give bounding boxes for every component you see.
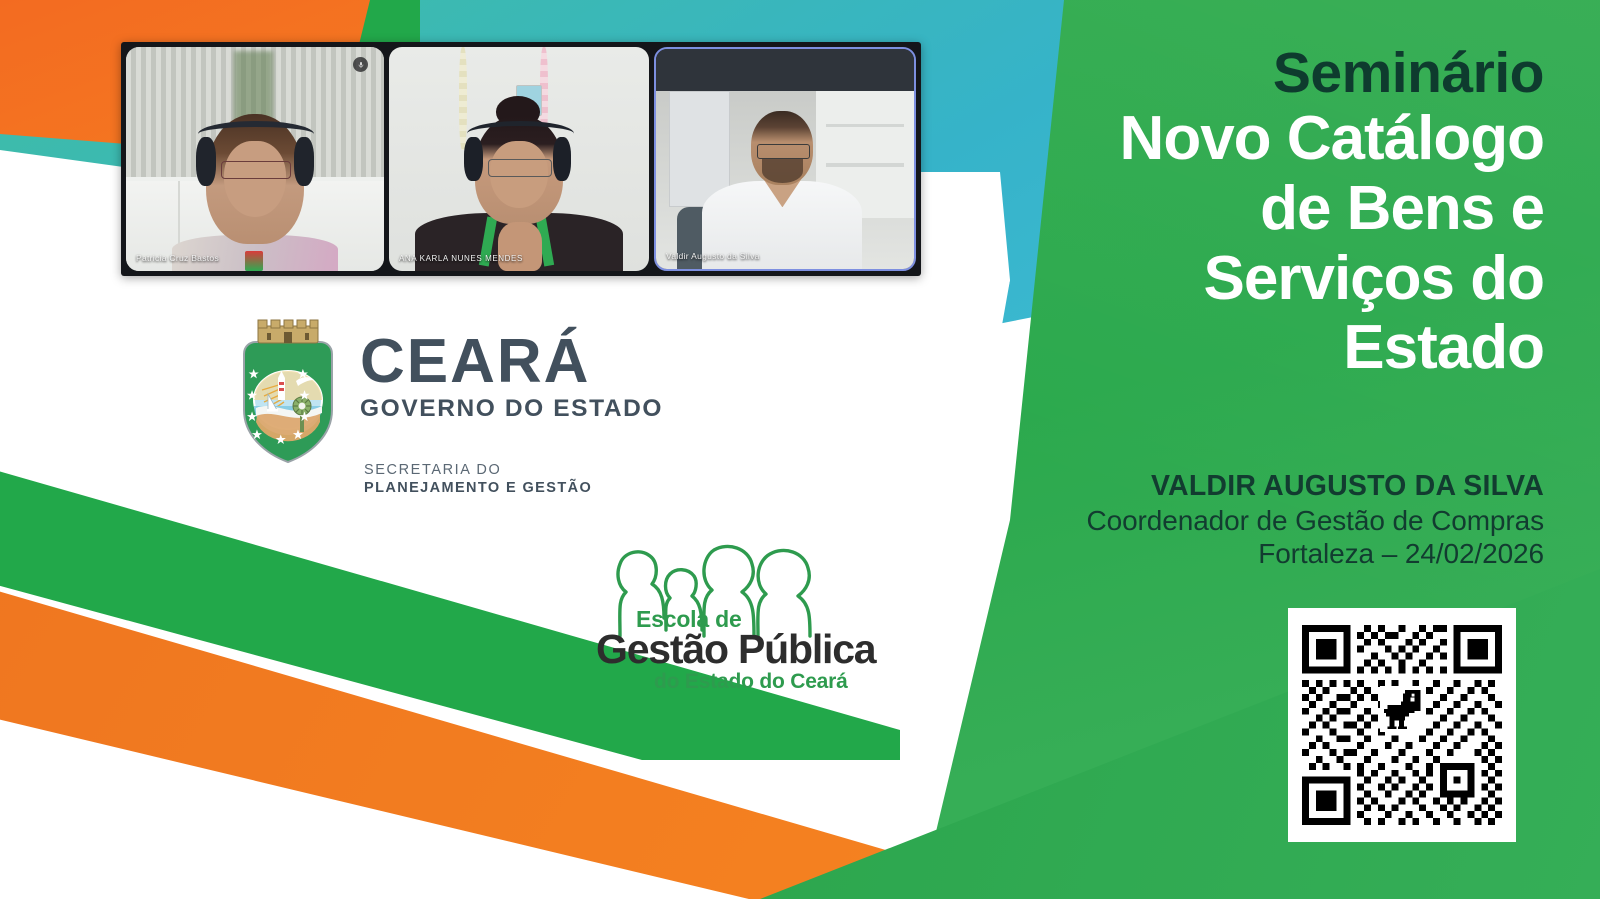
title-line-1: Novo Catálogo: [984, 106, 1544, 172]
video-tile-participant-2[interactable]: ANA KARLA NUNES MENDES: [389, 47, 649, 271]
title-kicker: Seminário: [984, 44, 1544, 102]
ceara-subtitle: GOVERNO DO ESTADO: [360, 395, 663, 423]
title-line-4: Estado: [984, 315, 1544, 381]
presentation-slide: Patricia Cruz Bastos ANA KARLA NUNES MEN…: [0, 0, 1600, 899]
qr-code[interactable]: [1288, 608, 1516, 842]
participant-name-label: Patricia Cruz Bastos: [136, 253, 219, 263]
video-tile-participant-1[interactable]: Patricia Cruz Bastos: [126, 47, 384, 271]
ceara-wordmark: CEARÁ: [360, 332, 663, 393]
tile1-person-badge: [245, 251, 263, 271]
egp-line-2: Gestão Pública: [596, 626, 875, 673]
speaker-info-block: VALDIR AUGUSTO DA SILVA Coordenador de G…: [984, 470, 1544, 570]
tile3-ceiling: [656, 49, 914, 91]
tile1-headset-left: [196, 137, 217, 186]
ceara-government-logo: CEARÁ GOVERNO DO ESTADO SECRETARIA DO PL…: [232, 314, 702, 504]
tile2-eyeglasses: [488, 159, 552, 177]
tile3-shelf-lower: [826, 163, 903, 166]
ceara-coat-of-arms-icon: [234, 318, 342, 466]
tile1-eyeglasses: [221, 161, 290, 179]
ceara-wordmark-block: CEARÁ GOVERNO DO ESTADO: [360, 332, 663, 423]
video-tile-participant-3[interactable]: Valdir Augusto da Silva: [654, 47, 916, 271]
tile3-eyeglasses: [757, 144, 811, 159]
title-line-3: Serviços do: [984, 246, 1544, 312]
tile2-headset-right: [553, 137, 571, 182]
tile3-person-beard: [762, 159, 803, 183]
tile1-person-face: [224, 141, 286, 217]
video-conference-strip: Patricia Cruz Bastos ANA KARLA NUNES MEN…: [121, 42, 921, 276]
slide-title-block: Seminário Novo Catálogo de Bens e Serviç…: [984, 44, 1544, 381]
tile1-headset-right: [294, 137, 315, 186]
escola-gestao-publica-logo: Escola de Gestão Pública do Estado do Ce…: [588, 518, 878, 704]
speaker-name: VALDIR AUGUSTO DA SILVA: [984, 470, 1544, 503]
speaker-place-date: Fortaleza – 24/02/2026: [984, 538, 1544, 570]
title-line-2: de Bens e: [984, 176, 1544, 242]
secretariat-line-1: SECRETARIA DO: [364, 462, 592, 478]
egp-line-3: do Estado do Ceará: [654, 670, 848, 694]
tile2-person-hand: [498, 222, 542, 271]
tile3-shelf-upper: [826, 124, 903, 127]
secretariat-line-2: PLANEJAMENTO E GESTÃO: [364, 480, 592, 496]
dinosaur-icon: [1380, 686, 1426, 732]
participant-name-label: ANA KARLA NUNES MENDES: [399, 254, 523, 263]
tile2-streamer-left: [459, 47, 467, 150]
tile2-headset-left: [464, 137, 482, 182]
speaker-role: Coordenador de Gestão de Compras: [984, 505, 1544, 537]
mic-muted-icon: [353, 57, 368, 72]
secretariat-block: SECRETARIA DO PLANEJAMENTO E GESTÃO: [364, 462, 592, 496]
participant-name-label: Valdir Augusto da Silva: [666, 251, 760, 261]
